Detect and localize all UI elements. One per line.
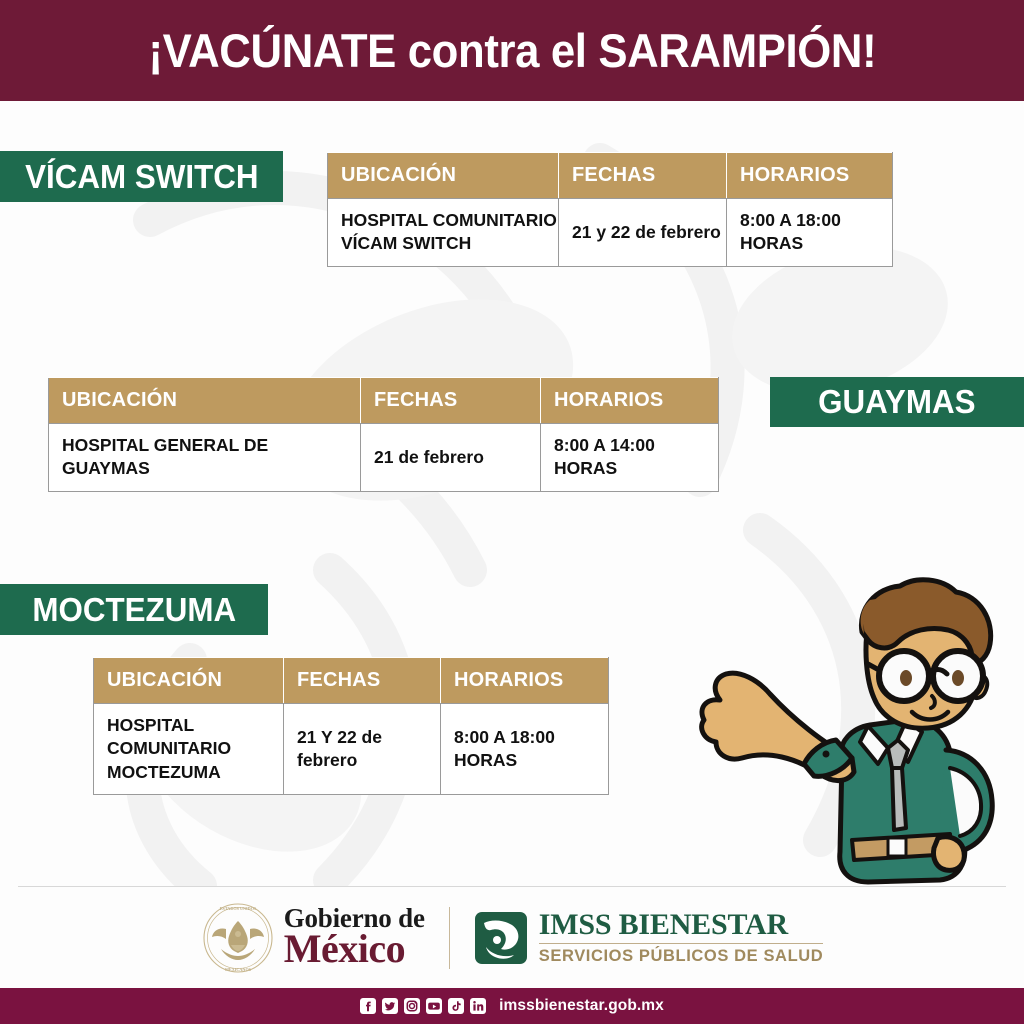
imss-eagle-emblem — [474, 911, 528, 965]
svg-text:ESTADOS UNIDOS: ESTADOS UNIDOS — [219, 906, 256, 911]
section-label-moctezuma: MOCTEZUMA — [0, 584, 268, 635]
schedule-table-guaymas: UBICACIÓN FECHAS HORARIOS HOSPITAL GENER… — [48, 377, 719, 492]
cell-horarios: 8:00 A 18:00 HORAS — [441, 704, 609, 795]
schedule-table-vicam-switch: UBICACIÓN FECHAS HORARIOS HOSPITAL COMUN… — [327, 152, 893, 267]
social-icon-row — [360, 998, 486, 1014]
table-header-row: UBICACIÓN FECHAS HORARIOS — [328, 153, 893, 199]
table-row: HOSPITAL COMUNITARIO VÍCAM SWITCH 21 y 2… — [328, 199, 893, 267]
footer-logo-area: ESTADOS UNIDOS MEXICANOS Gobierno de Méx… — [0, 890, 1024, 985]
cell-horarios: 8:00 A 18:00 HORAS — [727, 199, 893, 267]
tiktok-icon[interactable] — [448, 998, 464, 1014]
cell-fechas: 21 de febrero — [361, 424, 541, 492]
section-label-guaymas: GUAYMAS — [770, 377, 1024, 427]
bottom-bar: imssbienestar.gob.mx — [0, 988, 1024, 1024]
svg-text:MEXICANOS: MEXICANOS — [225, 967, 252, 972]
column-header-horarios: HORARIOS — [727, 153, 893, 199]
mexican-coat-of-arms: ESTADOS UNIDOS MEXICANOS — [201, 901, 275, 975]
pointing-character-illustration — [692, 572, 1022, 887]
poster-canvas: ¡VACÚNATE contra el SARAMPIÓN! VÍCAM SWI… — [0, 0, 1024, 1024]
table-row: HOSPITAL COMUNITARIO MOCTEZUMA 21 Y 22 d… — [94, 704, 609, 795]
column-header-fechas: FECHAS — [559, 153, 727, 199]
column-header-horarios: HORARIOS — [441, 658, 609, 704]
imss-bienestar-logo: IMSS BIENESTAR SERVICIOS PÚBLICOS DE SAL… — [474, 909, 824, 967]
footer-divider — [18, 886, 1006, 887]
section-label-text: GUAYMAS — [818, 383, 975, 421]
imss-line-2: SERVICIOS PÚBLICOS DE SALUD — [539, 947, 824, 966]
logo-separator — [449, 907, 450, 969]
facebook-icon[interactable] — [360, 998, 376, 1014]
cell-horarios: 8:00 A 14:00 HORAS — [541, 424, 719, 492]
twitter-icon[interactable] — [382, 998, 398, 1014]
header-banner: ¡VACÚNATE contra el SARAMPIÓN! — [0, 0, 1024, 101]
cell-ubicacion: HOSPITAL COMUNITARIO MOCTEZUMA — [94, 704, 284, 795]
gobierno-line-2: México — [284, 930, 425, 968]
imss-rule — [539, 943, 824, 944]
website-url[interactable]: imssbienestar.gob.mx — [499, 997, 664, 1015]
instagram-icon[interactable] — [404, 998, 420, 1014]
cell-ubicacion: HOSPITAL GENERAL DE GUAYMAS — [49, 424, 361, 492]
imss-line-1: IMSS BIENESTAR — [539, 909, 824, 941]
youtube-icon[interactable] — [426, 998, 442, 1014]
column-header-fechas: FECHAS — [284, 658, 441, 704]
column-header-ubicacion: UBICACIÓN — [94, 658, 284, 704]
column-header-ubicacion: UBICACIÓN — [328, 153, 559, 199]
table-header-row: UBICACIÓN FECHAS HORARIOS — [49, 378, 719, 424]
table-header-row: UBICACIÓN FECHAS HORARIOS — [94, 658, 609, 704]
gobierno-de-mexico-logo: ESTADOS UNIDOS MEXICANOS Gobierno de Méx… — [201, 901, 425, 975]
section-label-vicam-switch: VÍCAM SWITCH — [0, 151, 283, 202]
column-header-ubicacion: UBICACIÓN — [49, 378, 361, 424]
column-header-fechas: FECHAS — [361, 378, 541, 424]
column-header-horarios: HORARIOS — [541, 378, 719, 424]
section-label-text: VÍCAM SWITCH — [25, 158, 258, 196]
linkedin-icon[interactable] — [470, 998, 486, 1014]
cell-fechas: 21 Y 22 de febrero — [284, 704, 441, 795]
cell-fechas: 21 y 22 de febrero — [559, 199, 727, 267]
cell-ubicacion: HOSPITAL COMUNITARIO VÍCAM SWITCH — [328, 199, 559, 267]
section-label-text: MOCTEZUMA — [32, 591, 236, 629]
table-row: HOSPITAL GENERAL DE GUAYMAS 21 de febrer… — [49, 424, 719, 492]
schedule-table-moctezuma: UBICACIÓN FECHAS HORARIOS HOSPITAL COMUN… — [93, 657, 609, 795]
page-title: ¡VACÚNATE contra el SARAMPIÓN! — [148, 23, 876, 78]
